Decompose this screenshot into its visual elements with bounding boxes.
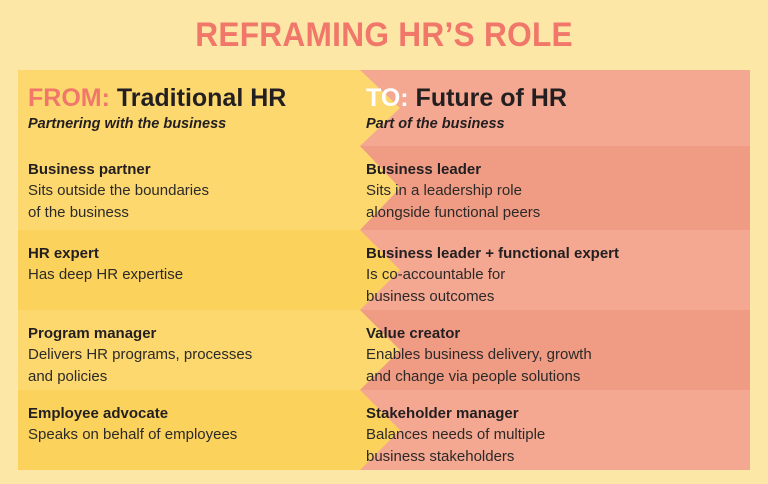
to-row-2-desc: Is co-accountable forbusiness outcomes [366,264,746,307]
from-row-3: Program manager Delivers HR programs, pr… [28,324,358,387]
from-row-4-title: Employee advocate [28,404,358,424]
to-row-1-title: Business leader [366,160,746,180]
to-heading-text: Future of HR [416,84,567,112]
from-heading: FROM: Traditional HR [28,84,358,112]
to-row-1-desc: Sits in a leadership rolealongside funct… [366,180,746,223]
to-kicker: TO: [366,84,409,112]
from-heading-text: Traditional HR [117,84,286,112]
from-subheading: Partnering with the business [28,116,358,133]
page-title: REFRAMING HR’S ROLE [0,0,768,70]
to-row-3-title: Value creator [366,324,746,344]
comparison-panel: FROM: Traditional HR Partnering with the… [18,70,750,470]
from-row-3-desc: Delivers HR programs, processesand polic… [28,344,358,387]
from-row-1: Business partner Sits outside the bounda… [28,160,358,223]
to-row-1: Business leader Sits in a leadership rol… [366,160,746,223]
to-row-3-desc: Enables business delivery, growthand cha… [366,344,746,387]
to-row-4-title: Stakeholder manager [366,404,746,424]
to-row-2-title: Business leader + functional expert [366,244,746,264]
from-row-2: HR expert Has deep HR expertise [28,244,358,286]
to-column-header: TO: Future of HR Part of the business [366,84,746,133]
from-row-4: Employee advocate Speaks on behalf of em… [28,404,358,446]
from-row-1-desc: Sits outside the boundariesof the busine… [28,180,358,223]
to-subheading: Part of the business [366,116,746,133]
to-row-4-desc: Balances needs of multiplebusiness stake… [366,424,746,467]
infographic-root: REFRAMING HR’S ROLE FROM: Traditional HR… [0,0,768,484]
to-row-4: Stakeholder manager Balances needs of mu… [366,404,746,467]
from-row-1-title: Business partner [28,160,358,180]
to-row-3: Value creator Enables business delivery,… [366,324,746,387]
page-title-text: REFRAMING HR’S ROLE [195,16,573,55]
from-row-2-title: HR expert [28,244,358,264]
from-row-2-desc: Has deep HR expertise [28,264,358,285]
from-column-header: FROM: Traditional HR Partnering with the… [28,84,358,133]
from-row-4-desc: Speaks on behalf of employees [28,424,358,445]
from-kicker: FROM: [28,84,110,112]
to-row-2: Business leader + functional expert Is c… [366,244,746,307]
from-row-3-title: Program manager [28,324,358,344]
to-heading: TO: Future of HR [366,84,746,112]
